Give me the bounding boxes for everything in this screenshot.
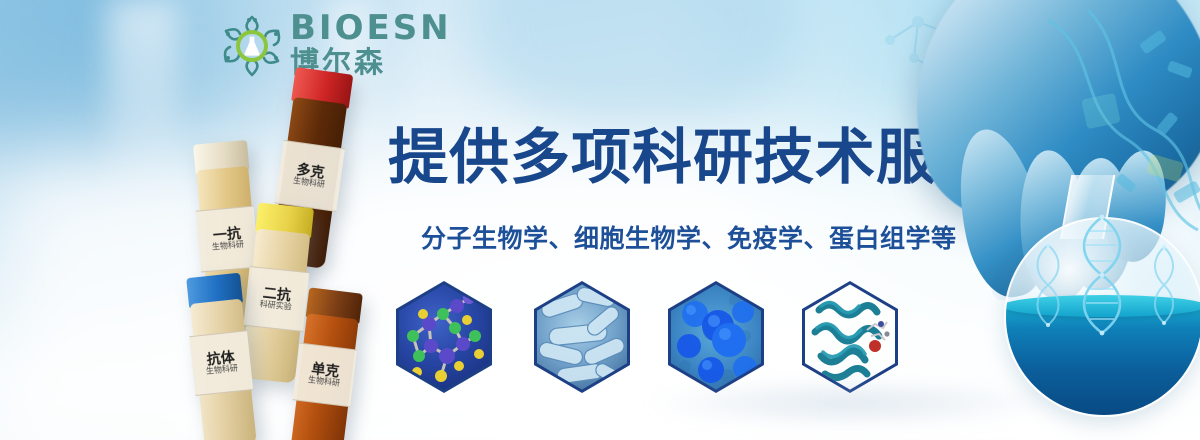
vial-label-sub: 生物科研 bbox=[212, 241, 245, 252]
bacteria-hexagon-icon[interactable] bbox=[534, 281, 630, 393]
dna-helix-strands-icon bbox=[986, 175, 1200, 440]
vial-label-sub: 生物科研 bbox=[206, 365, 239, 377]
vial-label-sub: 生物科研 bbox=[307, 376, 340, 388]
vial-label: 抗体 生物科研 bbox=[189, 330, 253, 396]
background-blob-top bbox=[470, 0, 800, 140]
background-light-streak bbox=[108, 0, 178, 250]
hexagon-inner bbox=[805, 284, 895, 389]
antibody-vial-cluster: 多克 生物科研 一抗 生物科研 二抗 科研实验 bbox=[185, 60, 405, 415]
bacteria-graphic bbox=[537, 284, 627, 389]
logo-english-name: BIOESN bbox=[290, 10, 450, 46]
protein-ribbon-graphic bbox=[805, 284, 895, 389]
hexagon-inner bbox=[671, 284, 761, 389]
vial-label: 单克 生物科研 bbox=[292, 343, 357, 408]
vial-label-sub: 生物科研 bbox=[292, 177, 325, 190]
vial-label: 多克 生物科研 bbox=[275, 140, 345, 212]
banner-root: BIOESN 博尔森 多克 生物科研 一抗 生物科研 bbox=[0, 0, 1200, 440]
cells-hexagon-icon[interactable] bbox=[668, 281, 764, 393]
molecule-hexagon-icon[interactable] bbox=[396, 281, 492, 393]
hexagon-inner bbox=[537, 284, 627, 389]
hexagon-inner bbox=[399, 284, 489, 389]
vial-label-sub: 科研实验 bbox=[259, 300, 292, 312]
round-bottom-flask bbox=[986, 175, 1200, 440]
vial-label: 二抗 科研实验 bbox=[243, 266, 309, 332]
cells-graphic bbox=[671, 284, 761, 389]
molecule-graphic bbox=[399, 284, 489, 389]
